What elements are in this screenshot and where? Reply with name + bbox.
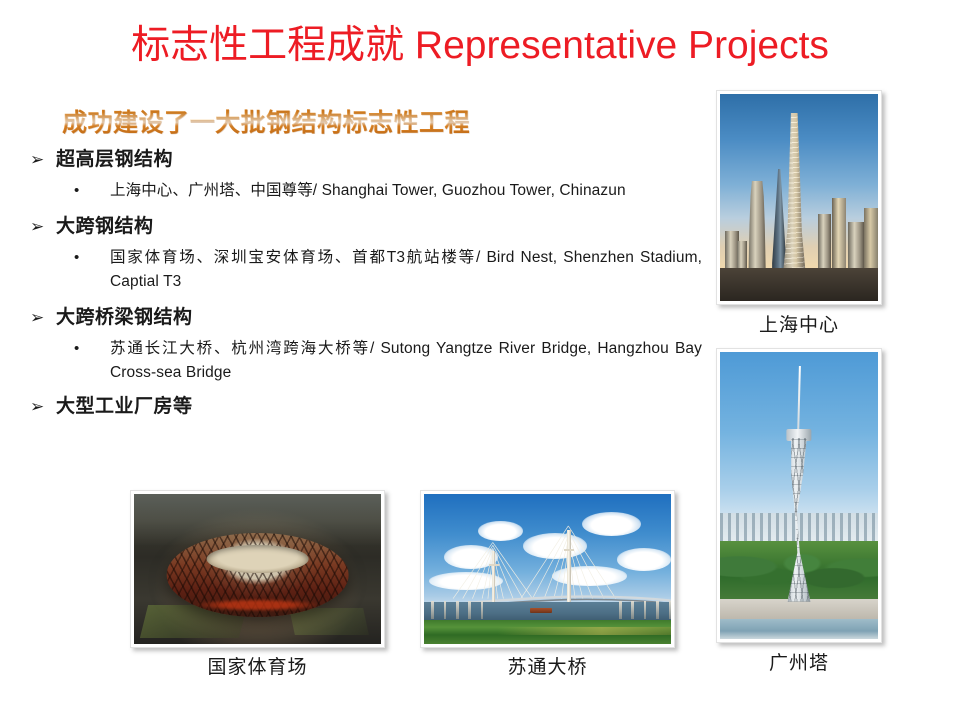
photo-canton-tower-image bbox=[720, 352, 878, 639]
bullet-heading: 大型工业厂房等 bbox=[56, 393, 193, 421]
dot-bullet-icon: • bbox=[74, 337, 110, 361]
bullet-heading: 大跨桥梁钢结构 bbox=[56, 304, 193, 332]
jinmao-tower bbox=[748, 181, 765, 276]
bullet-heading: 大跨钢结构 bbox=[56, 213, 154, 241]
photo-birds-nest[interactable] bbox=[130, 490, 385, 648]
section-subtitle: 成功建设了一大批钢结构标志性工程 bbox=[62, 103, 470, 139]
photo-sutong-bridge-image bbox=[424, 494, 671, 644]
photo-shanghai-tower-image bbox=[720, 94, 878, 301]
ground-plane bbox=[720, 268, 878, 301]
photo-canton-tower[interactable] bbox=[716, 348, 882, 643]
slide-canvas: 标志性工程成就 Representative Projects 成功建设了一大批… bbox=[0, 0, 960, 720]
bullet-level2-item: • 国家体育场、深圳宝安体育场、首都T3航站楼等/ Bird Nest, She… bbox=[26, 246, 702, 294]
arrow-bullet-icon: ➢ bbox=[26, 304, 56, 332]
bullet-level1-item: ➢ 大型工业厂房等 bbox=[26, 393, 702, 421]
cloud bbox=[617, 548, 671, 571]
bullet-detail: 国家体育场、深圳宝安体育场、首都T3航站楼等/ Bird Nest, Shenz… bbox=[110, 246, 702, 294]
bullet-heading: 超高层钢结构 bbox=[56, 146, 173, 174]
page-title: 标志性工程成就 Representative Projects bbox=[0, 24, 960, 69]
photo-caption-birds-nest: 国家体育场 bbox=[130, 652, 385, 679]
dot-bullet-icon: • bbox=[74, 179, 110, 203]
cloud bbox=[523, 533, 587, 559]
arrow-bullet-icon: ➢ bbox=[26, 213, 56, 241]
plaza-ground bbox=[720, 599, 878, 619]
cloud bbox=[478, 521, 522, 541]
skyline-building bbox=[832, 198, 846, 277]
photo-birds-nest-image bbox=[134, 494, 381, 644]
riverbank-grass bbox=[424, 620, 671, 644]
skyline-building bbox=[864, 208, 878, 276]
arrow-bullet-icon: ➢ bbox=[26, 393, 56, 421]
bullet-detail: 上海中心、广州塔、中国尊等/ Shanghai Tower, Guozhou T… bbox=[110, 179, 702, 203]
cloud bbox=[582, 512, 641, 536]
photo-shanghai-tower[interactable] bbox=[716, 90, 882, 305]
pearl-river bbox=[720, 619, 878, 639]
photo-caption-shanghai-tower: 上海中心 bbox=[716, 310, 882, 337]
photo-caption-canton-tower: 广州塔 bbox=[716, 648, 882, 675]
bullet-level2-item: • 苏通长江大桥、杭州湾跨海大桥等/ Sutong Yangtze River … bbox=[26, 337, 702, 385]
photo-sutong-bridge[interactable] bbox=[420, 490, 675, 648]
bullet-level2-item: • 上海中心、广州塔、中国尊等/ Shanghai Tower, Guozhou… bbox=[26, 179, 702, 203]
arrow-bullet-icon: ➢ bbox=[26, 146, 56, 174]
bullet-detail: 苏通长江大桥、杭州湾跨海大桥等/ Sutong Yangtze River Br… bbox=[110, 337, 702, 385]
bridge-pylon bbox=[567, 530, 571, 602]
bullet-level1-item: ➢ 超高层钢结构 bbox=[26, 146, 702, 174]
photo-caption-sutong-bridge: 苏通大桥 bbox=[420, 652, 675, 679]
dot-bullet-icon: • bbox=[74, 246, 110, 270]
bullet-list: ➢ 超高层钢结构 • 上海中心、广州塔、中国尊等/ Shanghai Tower… bbox=[26, 146, 702, 423]
skyline-building bbox=[818, 214, 831, 276]
bridge-piers bbox=[424, 601, 671, 619]
bridge-pylon bbox=[492, 551, 496, 602]
cloud bbox=[552, 566, 626, 586]
bullet-level1-item: ➢ 大跨桥梁钢结构 bbox=[26, 304, 702, 332]
stadium-light-glow bbox=[198, 599, 317, 611]
bullet-level1-item: ➢ 大跨钢结构 bbox=[26, 213, 702, 241]
